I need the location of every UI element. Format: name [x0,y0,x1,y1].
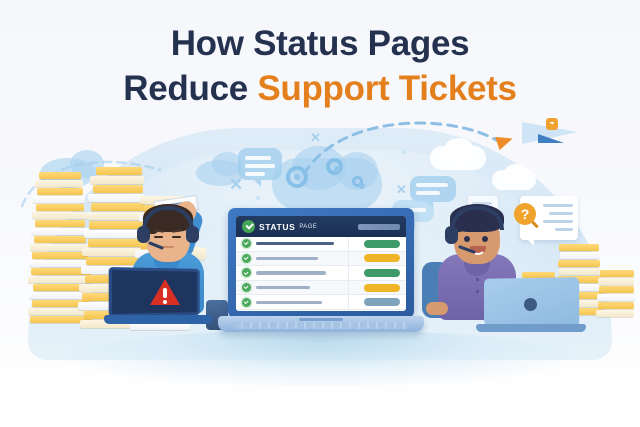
service-name-placeholder [256,257,318,260]
right-laptop-base [476,324,586,332]
x-mark-icon: ✕ [229,175,243,195]
service-name-placeholder [256,242,334,245]
status-badge [364,269,400,277]
status-page-column-divider [348,237,349,311]
laptop-base [218,316,424,332]
status-badge [364,298,400,306]
status-row[interactable] [236,237,406,252]
laptop-trackpad [299,318,343,321]
check-circle-icon [242,268,251,277]
status-row[interactable] [236,281,406,296]
left-laptop-base [104,315,212,324]
agent-eye [482,236,488,242]
laptop-lid: STATUS PAGE [228,208,414,318]
service-name-placeholder [256,286,310,289]
paper-plane-icon [522,112,584,158]
title-line-1: How Status Pages [0,22,640,67]
check-circle-icon [242,254,251,263]
status-badge [364,240,400,248]
agent-eye [464,236,470,242]
page-title: How Status Pages Reduce Support Tickets [0,22,640,112]
status-check-badge-icon [242,220,255,233]
service-name-placeholder [256,271,326,274]
status-badge [364,284,400,292]
status-page-laptop[interactable]: STATUS PAGE [218,208,424,342]
service-name-placeholder [256,301,322,304]
status-page-rows [236,237,406,311]
left-laptop [104,268,206,330]
status-row[interactable] [236,266,406,281]
warning-triangle-icon [150,279,180,305]
status-page-title: STATUS [259,222,295,232]
status-row[interactable] [236,252,406,267]
status-badge [364,254,400,262]
right-laptop [476,278,580,332]
title-line-2-plain: Reduce [123,69,257,108]
title-line-2-accent: Support Tickets [257,69,516,108]
laptop-logo-icon [524,298,537,311]
check-circle-icon [242,283,251,292]
status-page-subtitle: PAGE [299,224,317,230]
status-page-header: STATUS PAGE [236,216,406,237]
headset-earcup [137,226,150,243]
check-circle-icon [242,298,251,307]
dashed-arc [300,108,520,178]
agent-hand [426,302,448,315]
status-page-meta-placeholder [358,224,400,230]
status-row[interactable] [236,295,406,310]
laptop-screen: STATUS PAGE [236,216,406,311]
agent-eye [172,236,181,238]
headset-earcup [445,226,458,244]
poster-illustration: How Status Pages Reduce Support Tickets … [0,0,640,427]
x-mark-icon: ✕ [396,182,407,198]
message-bubble-icon [238,148,282,180]
laptop-keyboard [234,322,408,329]
agent-eye [154,236,163,238]
check-circle-icon [242,239,251,248]
headset-earcup [186,226,199,243]
title-line-2: Reduce Support Tickets [0,67,640,112]
